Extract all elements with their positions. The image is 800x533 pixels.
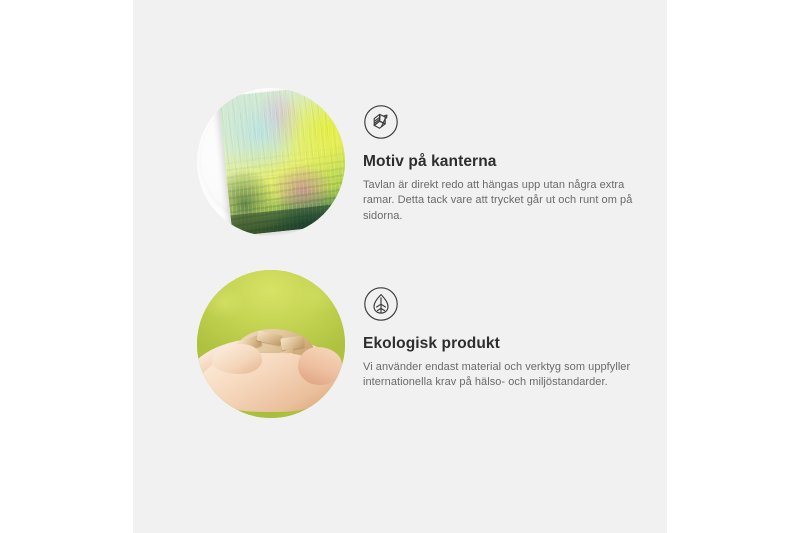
feature-description: Tavlan är direkt redo att hängas upp uta… [363, 178, 633, 225]
content-panel [133, 0, 667, 533]
feature-description: Vi använder endast material och verktyg … [363, 360, 633, 391]
feature-title: Ekologisk produkt [363, 335, 633, 354]
product-feature-panel: Motiv på kanterna Tavlan är direkt redo … [0, 0, 800, 533]
hands-holding-wood-chips-photo [197, 270, 345, 418]
feature-block-eco-product: Ekologisk produkt Vi använder endast mat… [197, 270, 633, 418]
canvas-print-corner-photo [197, 88, 345, 236]
thumb [212, 344, 262, 374]
canvas-wrapped-edge-icon [363, 104, 399, 140]
feature-block-canvas-edges: Motiv på kanterna Tavlan är direkt redo … [197, 88, 633, 236]
canvas-block [218, 88, 345, 236]
feature-copy: Ekologisk produkt Vi använder endast mat… [363, 270, 633, 391]
fingers [298, 347, 342, 385]
feature-copy: Motiv på kanterna Tavlan är direkt redo … [363, 88, 633, 224]
feature-title: Motiv på kanterna [363, 153, 633, 172]
leaf-icon [363, 286, 399, 322]
